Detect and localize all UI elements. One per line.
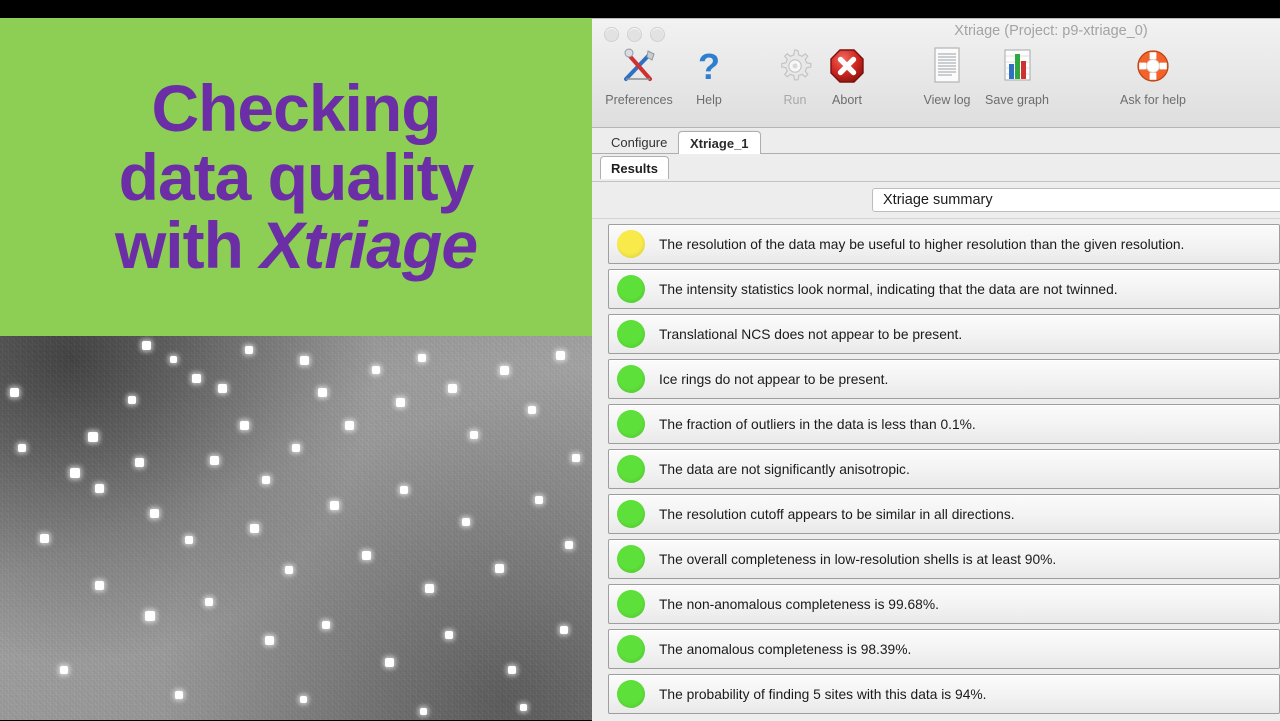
diffraction-spot <box>572 454 580 462</box>
help-label: Help <box>666 93 752 107</box>
diffraction-spot <box>396 398 405 407</box>
diffraction-spot <box>500 366 509 375</box>
title-line-1: Checking <box>151 74 440 143</box>
diffraction-image <box>0 336 592 720</box>
diffraction-spot <box>40 534 49 543</box>
table-row[interactable]: The probability of finding 5 sites with … <box>608 674 1280 714</box>
diffraction-spot <box>462 518 470 526</box>
diffraction-spot <box>300 356 309 365</box>
diffraction-spot <box>145 611 155 621</box>
diffraction-spot <box>372 366 380 374</box>
table-row[interactable]: The anomalous completeness is 98.39%. <box>608 629 1280 669</box>
ask-for-help-button[interactable]: Ask for help <box>1098 43 1208 107</box>
diffraction-spot <box>330 501 339 510</box>
diffraction-spot <box>205 598 213 606</box>
title-line-3: with Xtriage <box>115 211 477 280</box>
status-badge <box>617 455 645 483</box>
diffraction-spot <box>362 551 371 560</box>
status-badge <box>617 230 645 258</box>
diffraction-spot <box>318 388 327 397</box>
svg-text:?: ? <box>698 46 720 86</box>
diffraction-spot <box>470 431 478 439</box>
status-badge <box>617 500 645 528</box>
result-message: The data are not significantly anisotrop… <box>659 462 910 477</box>
tab-xtriage-1[interactable]: Xtriage_1 <box>678 131 761 155</box>
status-badge <box>617 680 645 708</box>
table-row[interactable]: The fraction of outliers in the data is … <box>608 404 1280 444</box>
diffraction-spot <box>265 636 274 645</box>
result-message: The probability of finding 5 sites with … <box>659 687 986 702</box>
table-row[interactable]: The non-anomalous completeness is 99.68%… <box>608 584 1280 624</box>
status-badge <box>617 275 645 303</box>
status-badge <box>617 410 645 438</box>
diffraction-spot <box>175 691 183 699</box>
diffraction-noise <box>0 336 592 720</box>
result-message: The anomalous completeness is 98.39%. <box>659 642 911 657</box>
status-badge <box>617 365 645 393</box>
diffraction-spot <box>420 708 427 715</box>
table-row[interactable]: The resolution of the data may be useful… <box>608 224 1280 264</box>
diffraction-spot <box>292 444 300 452</box>
diffraction-spot <box>322 621 330 629</box>
result-message: The intensity statistics look normal, in… <box>659 282 1118 297</box>
tab-configure[interactable]: Configure <box>600 131 678 153</box>
table-row[interactable]: The overall completeness in low-resoluti… <box>608 539 1280 579</box>
diffraction-spot <box>60 666 68 674</box>
diffraction-spot <box>150 509 159 518</box>
tab-results[interactable]: Results <box>600 156 669 179</box>
diffraction-spot <box>135 458 144 467</box>
table-row[interactable]: Translational NCS does not appear to be … <box>608 314 1280 354</box>
ask-for-help-label: Ask for help <box>1098 93 1208 107</box>
table-row[interactable]: Ice rings do not appear to be present. <box>608 359 1280 399</box>
diffraction-spot <box>300 696 307 703</box>
title-line-3-plain: with <box>115 208 260 282</box>
diffraction-spot <box>245 346 253 354</box>
life-ring-icon <box>1098 43 1208 89</box>
diffraction-spot <box>556 351 565 360</box>
diffraction-spot <box>128 396 136 404</box>
diffraction-spot <box>262 476 270 484</box>
sub-tab-strip: Results <box>592 154 1280 182</box>
table-row[interactable]: The data are not significantly anisotrop… <box>608 449 1280 489</box>
summary-bar: Xtriage summary <box>592 182 1280 219</box>
diffraction-spot <box>142 341 151 350</box>
status-badge <box>617 320 645 348</box>
title-line-2: data quality <box>119 143 474 212</box>
diffraction-spot <box>240 421 249 430</box>
result-message: The resolution of the data may be useful… <box>659 237 1184 252</box>
diffraction-spot <box>218 384 227 393</box>
diffraction-spot <box>448 384 457 393</box>
question-mark-icon: ? <box>666 43 752 89</box>
diffraction-spot <box>418 354 426 362</box>
results-list[interactable]: The resolution of the data may be useful… <box>592 219 1280 721</box>
result-message: The resolution cutoff appears to be simi… <box>659 507 1015 522</box>
diffraction-spot <box>520 704 527 711</box>
toolbar: Preferences ? Help <box>592 43 1280 123</box>
diffraction-spot <box>425 584 434 593</box>
diffraction-spot <box>170 356 177 363</box>
diffraction-spot <box>250 524 259 533</box>
diffraction-spot <box>508 666 516 674</box>
diffraction-spot <box>400 486 408 494</box>
diffraction-spot <box>385 658 394 667</box>
table-row[interactable]: The resolution cutoff appears to be simi… <box>608 494 1280 534</box>
abort-label: Abort <box>804 93 890 107</box>
xtriage-application-window: Xtriage (Project: p9-xtriage_0) Preferen <box>592 18 1280 721</box>
bar-chart-icon <box>974 43 1060 89</box>
diffraction-spot <box>88 432 98 442</box>
result-message: The fraction of outliers in the data is … <box>659 417 976 432</box>
save-graph-label: Save graph <box>974 93 1060 107</box>
diffraction-spot <box>192 374 201 383</box>
window-titlebar: Xtriage (Project: p9-xtriage_0) Preferen <box>592 19 1280 128</box>
diffraction-spot <box>445 631 453 639</box>
diffraction-spot <box>70 468 80 478</box>
diffraction-spot <box>535 496 543 504</box>
main-tab-strip: Configure Xtriage_1 <box>592 128 1280 154</box>
title-card: Checking data quality with Xtriage <box>0 18 592 336</box>
diffraction-spot <box>10 388 19 397</box>
result-message: Translational NCS does not appear to be … <box>659 327 962 342</box>
diffraction-spot <box>285 566 293 574</box>
status-badge <box>617 590 645 618</box>
left-slide-panel: Checking data quality with Xtriage <box>0 18 592 720</box>
diffraction-spot <box>560 626 568 634</box>
diffraction-spot <box>565 541 573 549</box>
result-message: The overall completeness in low-resoluti… <box>659 552 1056 567</box>
diffraction-spot <box>210 456 219 465</box>
stop-sign-icon <box>804 43 890 89</box>
diffraction-spot <box>495 564 504 573</box>
diffraction-spot <box>95 484 104 493</box>
diffraction-spot <box>528 406 536 414</box>
save-graph-button[interactable]: Save graph <box>974 43 1060 107</box>
result-message: Ice rings do not appear to be present. <box>659 372 888 387</box>
summary-selector[interactable]: Xtriage summary <box>872 188 1280 212</box>
diffraction-spot <box>95 581 104 590</box>
abort-button[interactable]: Abort <box>804 43 890 107</box>
diffraction-spot <box>345 421 354 430</box>
status-badge <box>617 545 645 573</box>
slide-stage: Checking data quality with Xtriage <box>0 0 1280 720</box>
diffraction-spot <box>18 444 26 452</box>
result-message: The non-anomalous completeness is 99.68%… <box>659 597 939 612</box>
table-row[interactable]: The intensity statistics look normal, in… <box>608 269 1280 309</box>
diffraction-spot <box>185 536 193 544</box>
window-title: Xtriage (Project: p9-xtriage_0) <box>592 23 1280 39</box>
title-emphasis-xtriage: Xtriage <box>260 208 477 282</box>
status-badge <box>617 635 645 663</box>
help-button[interactable]: ? Help <box>666 43 752 107</box>
